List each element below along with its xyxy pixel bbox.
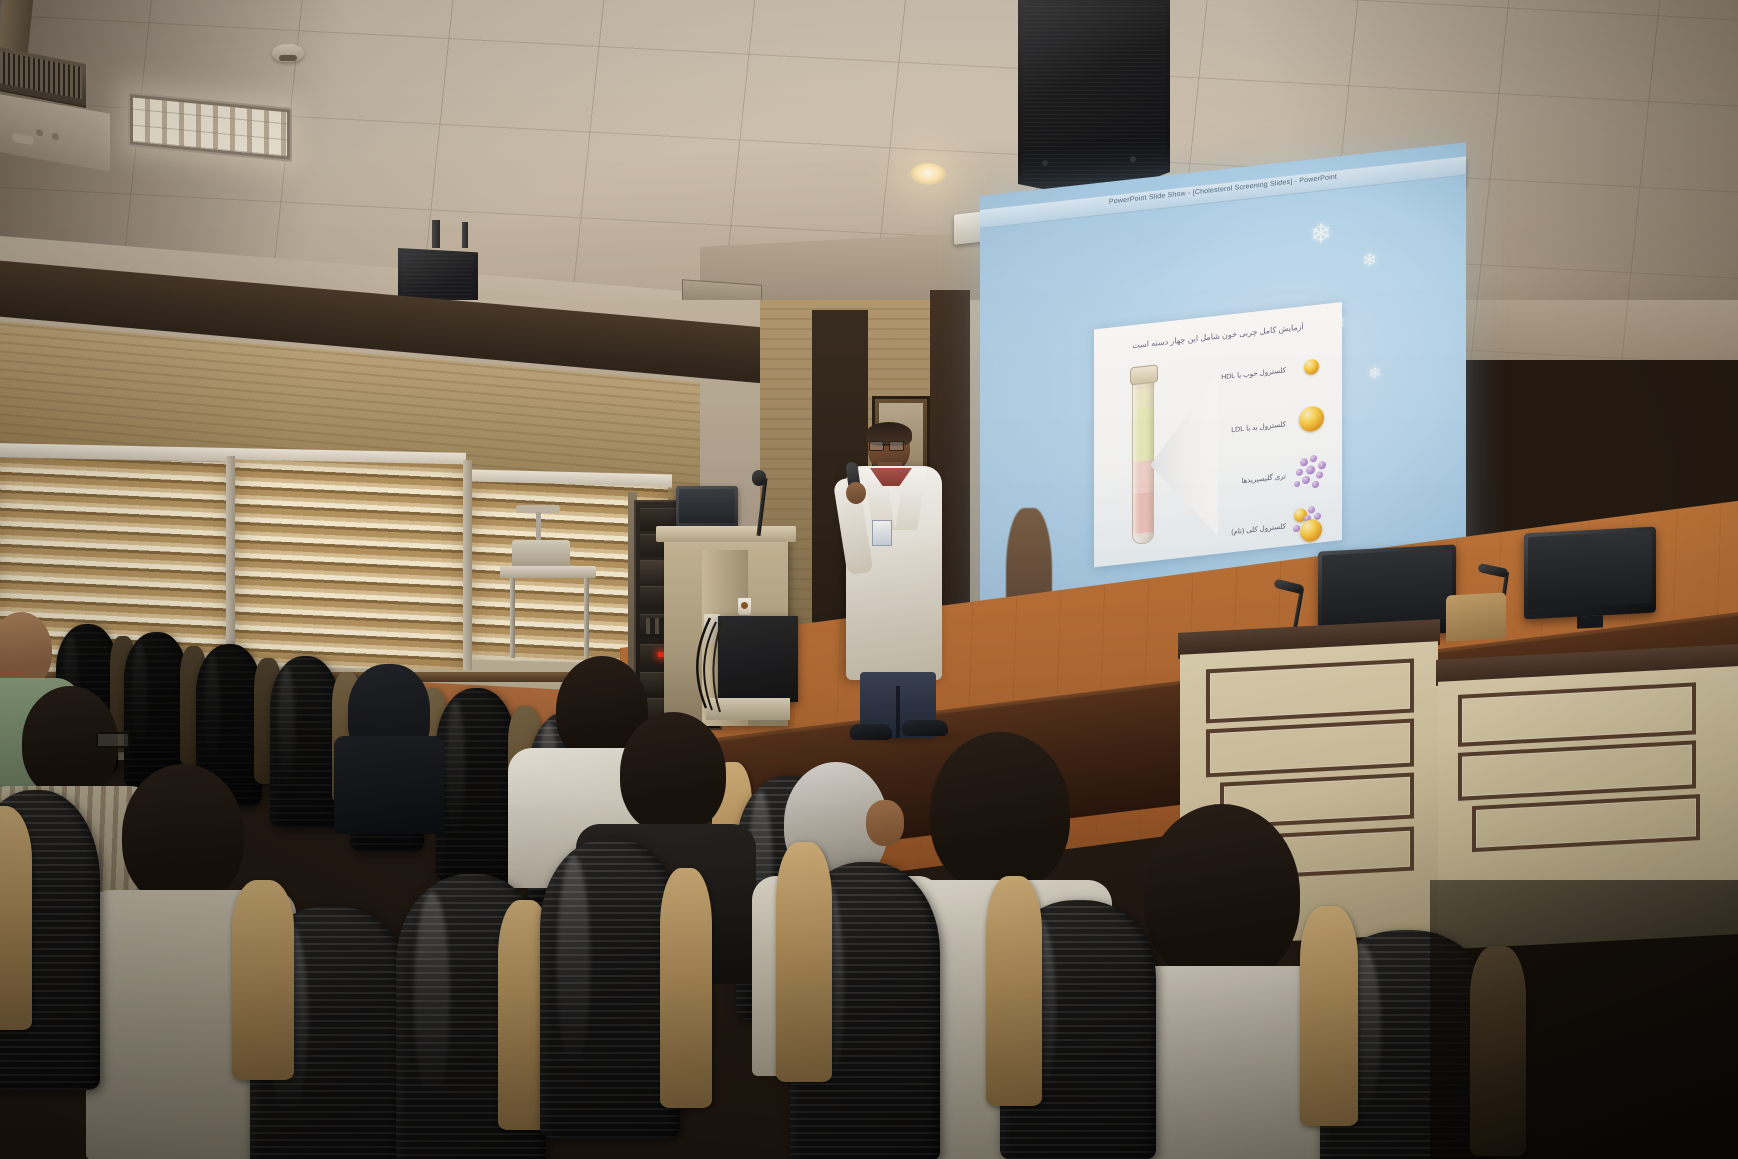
slide-item-triglycerides: تری گلیسیریدها	[1204, 449, 1334, 507]
lecture-hall-scene: PowerPoint Slide Show - [Cholesterol Scr…	[0, 0, 1738, 1159]
snowflake-icon: ❄	[1310, 219, 1332, 247]
presenter-id-badge	[872, 520, 892, 546]
seat-armrest	[776, 842, 832, 1082]
slide-item-total-label: کلسترول کلی (تام)	[1231, 522, 1286, 536]
seat[interactable]	[540, 838, 680, 1138]
slide-item-ldl-label: کلسترول بد با LDL	[1231, 420, 1286, 434]
presenter-shoe	[902, 720, 948, 736]
panel-desk-chair	[1446, 592, 1506, 641]
particle-hdl-icon	[1292, 345, 1334, 390]
equipment-cart-top	[500, 566, 596, 578]
audience-head	[930, 732, 1070, 892]
seat-armrest	[1300, 906, 1358, 1126]
particle-total-icon	[1292, 501, 1334, 546]
slide-item-ldl: کلسترول بد با LDL	[1204, 397, 1334, 455]
slide-item-hdl: کلسترول خوب یا HDL	[1204, 343, 1334, 401]
seat-armrest	[660, 868, 712, 1108]
blind-divider-2	[463, 460, 472, 670]
cart-leg	[584, 578, 589, 658]
lectern-microphone-icon	[752, 470, 766, 486]
audience-hand	[866, 800, 904, 846]
presenter-hand	[846, 482, 866, 504]
window-blinds-panel-2[interactable]	[235, 460, 465, 671]
seat-armrest	[986, 876, 1042, 1106]
snowflake-icon: ❄	[1362, 250, 1377, 270]
presenter	[844, 424, 964, 744]
foreground-shadow-right	[1430, 880, 1738, 1159]
particle-ldl-icon	[1292, 399, 1334, 444]
audience-head	[1144, 804, 1300, 984]
audience-head	[620, 712, 726, 834]
slide-item-triglycerides-label: تری گلیسیریدها	[1241, 472, 1286, 485]
seat[interactable]	[436, 688, 516, 882]
ceiling-downlight	[910, 163, 946, 185]
speaker-bracket-left-2	[462, 222, 468, 248]
seat-armrest	[0, 806, 32, 1030]
particle-triglyceride-icon	[1292, 451, 1334, 496]
seat-armrest	[232, 880, 294, 1080]
speaker-bracket-left	[432, 220, 440, 248]
cable-bundle	[676, 612, 796, 722]
ceiling-speaker-right	[1018, 0, 1170, 200]
slide-item-total: کلسترول کلی (تام)	[1204, 499, 1334, 557]
cart-leg	[510, 578, 515, 658]
presenter-shoe	[850, 724, 892, 740]
seat[interactable]	[270, 656, 340, 828]
lectern-monitor	[676, 486, 738, 530]
slide-item-hdl-label: کلسترول خوب یا HDL	[1221, 366, 1286, 381]
panel-desk-monitor-2	[1524, 527, 1656, 620]
smoke-detector-icon	[272, 44, 304, 62]
snowflake-icon: ❄	[1368, 366, 1381, 383]
glasses-icon	[96, 732, 130, 748]
audience-body	[334, 736, 444, 834]
glasses-icon	[869, 441, 903, 449]
slide-content-card: آزمایش کامل چربی خون شامل این چهار دسته …	[1094, 302, 1342, 567]
blind-divider-1	[226, 456, 235, 672]
audience-head	[122, 764, 244, 906]
